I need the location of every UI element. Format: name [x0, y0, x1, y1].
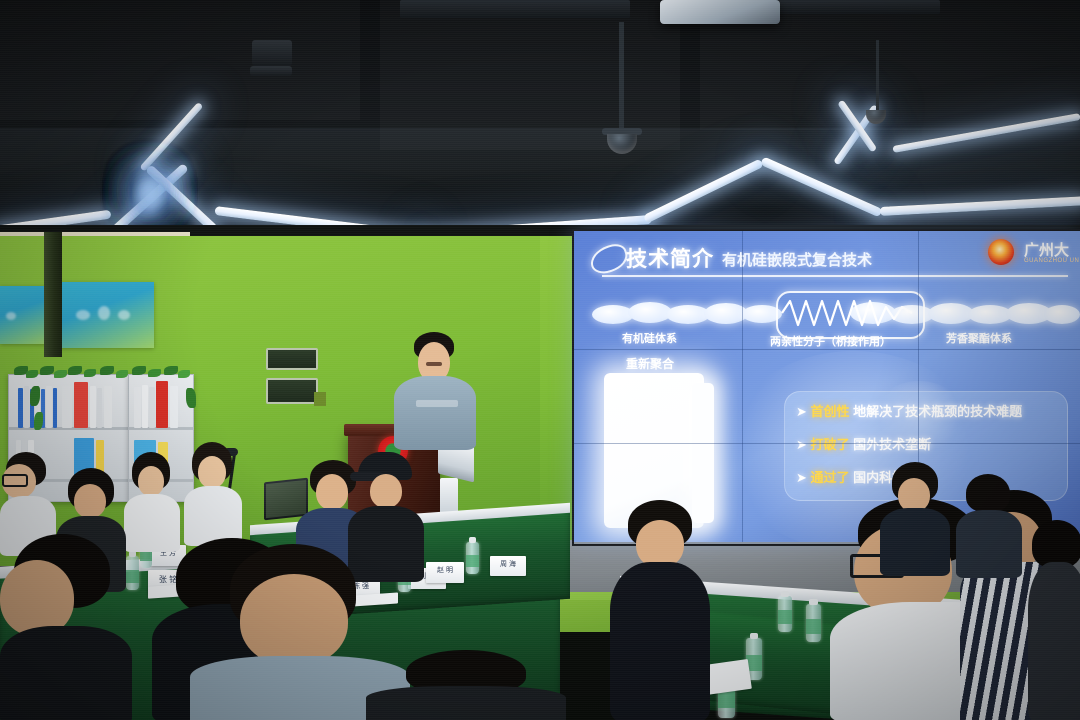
- ivy-leaf-icon: [84, 369, 96, 377]
- book: [74, 382, 88, 428]
- audience-person: [610, 500, 710, 720]
- ceiling-speaker: [250, 66, 292, 76]
- wall-air-vent-icon: [266, 378, 318, 404]
- ivy-leaf-icon: [68, 366, 82, 375]
- book: [134, 387, 141, 428]
- ivy-leaf-icon: [100, 366, 114, 375]
- ceiling-projector: [660, 0, 780, 24]
- wall-poster-left: [0, 286, 48, 344]
- book: [24, 386, 29, 428]
- book: [97, 388, 102, 428]
- namecard: 赵 明: [426, 562, 464, 583]
- ivy-leaf-icon: [164, 366, 178, 375]
- water-bottle: [466, 542, 479, 574]
- shirt-print: [416, 400, 458, 407]
- audience-person: [956, 474, 1022, 574]
- ceiling-speaker: [252, 40, 292, 66]
- ivy-leaf-icon: [132, 366, 146, 375]
- ivy-leaf-icon: [26, 370, 38, 378]
- book: [18, 388, 23, 428]
- ivy-vine-icon: [34, 412, 43, 430]
- namecard: 周 海: [490, 556, 526, 576]
- ceiling-panel: [0, 0, 360, 120]
- book: [170, 386, 178, 428]
- book: [156, 381, 168, 428]
- ceiling-duct: [760, 0, 940, 14]
- audience-person: [1028, 520, 1080, 720]
- ivy-vine-icon: [186, 388, 196, 408]
- audience-person: [880, 462, 950, 572]
- ceiling-duct: [400, 0, 630, 18]
- book: [104, 386, 112, 428]
- speaker-shirt: [394, 376, 476, 450]
- audience-person-foreground: [0, 534, 132, 720]
- ivy-leaf-icon: [148, 369, 161, 377]
- wall-poster-mid: [58, 282, 154, 348]
- wall-switch: [314, 392, 326, 406]
- book: [149, 387, 155, 428]
- book: [53, 388, 57, 428]
- camera-mount-rod: [619, 22, 624, 130]
- mouth: [426, 362, 442, 366]
- audience-person: [184, 442, 242, 542]
- book: [90, 386, 96, 428]
- presentation-room-photo: 技术简介 有机硅嵌段式复合技术 广州大 GUANGZHOU UN 有机硅体系 两…: [0, 0, 1080, 720]
- ivy-leaf-icon: [178, 370, 190, 378]
- book: [62, 386, 72, 428]
- wall-air-vent-icon: [266, 348, 318, 370]
- ivy-leaf-icon: [40, 366, 54, 375]
- water-bottle: [806, 604, 821, 642]
- ivy-leaf-icon: [116, 370, 128, 378]
- wall-column: [44, 232, 62, 357]
- water-bottle: [778, 596, 792, 632]
- ivy-leaf-icon: [54, 370, 67, 378]
- sensor-rod: [876, 40, 879, 112]
- audience-person-foreground: [366, 650, 566, 720]
- book: [142, 385, 148, 428]
- book: [46, 386, 52, 428]
- speaker-presenter: [390, 332, 480, 442]
- ivy-vine-icon: [30, 386, 40, 406]
- audience-person: [124, 452, 180, 548]
